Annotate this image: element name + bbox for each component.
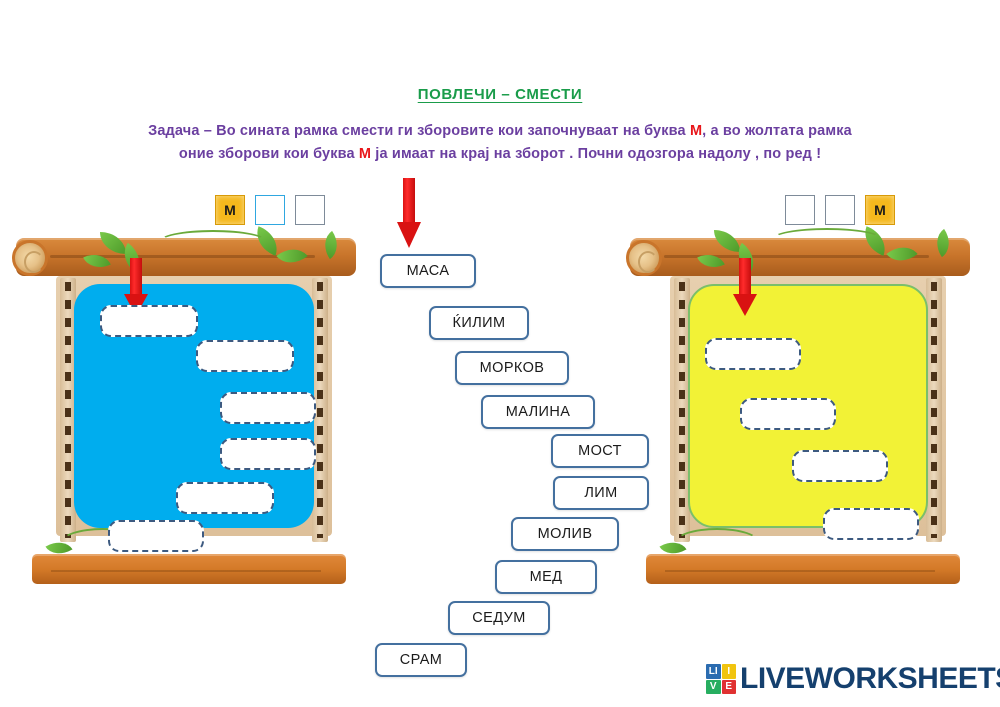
drop-slot-blue-2[interactable] — [196, 340, 294, 372]
drop-slot-blue-1[interactable] — [100, 305, 198, 337]
wood-log-top — [8, 228, 360, 284]
legend-box-left-3 — [295, 195, 325, 225]
instruction-line1-part2: , а во жолтата рамка — [702, 123, 852, 139]
vine-icon — [158, 230, 268, 254]
wood-log-top — [622, 228, 974, 284]
wood-plank-bottom — [32, 554, 346, 584]
down-arrow-icon-yellow — [733, 258, 757, 318]
drop-slot-blue-4[interactable] — [220, 438, 316, 470]
instruction-letter-m-2: М — [359, 146, 371, 162]
drop-slot-yellow-1[interactable] — [705, 338, 801, 370]
legend-box-left-2 — [255, 195, 285, 225]
drop-slot-blue-6[interactable] — [108, 520, 204, 552]
arrow-head — [397, 222, 421, 248]
logo-cell-e: E — [722, 680, 737, 695]
legend-box-right-2 — [825, 195, 855, 225]
instruction-text: Задача – Во сината рамка смести ги зборо… — [60, 120, 940, 166]
liveworksheets-grid-icon: LI I V E — [706, 664, 736, 694]
wood-plank-bottom — [646, 554, 960, 584]
word-card-sram[interactable]: СРАМ — [375, 643, 467, 677]
vine-icon — [674, 528, 760, 558]
legend-boxes-left: М — [215, 195, 325, 225]
vine-icon — [772, 228, 882, 250]
legend-box-left-1: М — [215, 195, 245, 225]
logo-cell-v: V — [706, 680, 721, 695]
word-card-med[interactable]: МЕД — [495, 560, 597, 594]
drop-slot-yellow-4[interactable] — [823, 508, 919, 540]
word-card-moliv[interactable]: МОЛИВ — [511, 517, 619, 551]
drop-slot-yellow-2[interactable] — [740, 398, 836, 430]
arrow-shaft — [403, 178, 415, 226]
down-arrow-icon-center — [397, 178, 421, 248]
log-end-cap-icon — [626, 240, 662, 276]
logo-cell-l: LI — [706, 664, 721, 679]
log-end-cap-icon — [12, 240, 48, 276]
worksheet-page: ПОВЛЕЧИ – СМЕСТИ Задача – Во сината рамк… — [0, 0, 1000, 707]
page-title: ПОВЛЕЧИ – СМЕСТИ — [0, 86, 1000, 103]
instruction-line1-part1: Задача – Во сината рамка смести ги зборо… — [148, 123, 690, 139]
word-card-masa[interactable]: МАСА — [380, 254, 476, 288]
word-card-morkov[interactable]: МОРКОВ — [455, 351, 569, 385]
instruction-line2-part1: оние зборови кои буква — [179, 146, 359, 162]
drop-slot-yellow-3[interactable] — [792, 450, 888, 482]
drop-slot-blue-5[interactable] — [176, 482, 274, 514]
liveworksheets-wordmark: LIVEWORKSHEETS — [740, 662, 1000, 696]
post-rivets-icon — [931, 282, 937, 538]
word-card-kilim[interactable]: ЌИЛИМ — [429, 306, 529, 340]
instruction-line2-part2: ја имаат на крај на зборот . Почни одозг… — [371, 146, 821, 162]
word-card-sedum[interactable]: СЕДУМ — [448, 601, 550, 635]
post-rivets-icon — [65, 282, 71, 538]
drop-slot-blue-3[interactable] — [220, 392, 316, 424]
word-card-most[interactable]: МОСТ — [551, 434, 649, 468]
instruction-letter-m-1: М — [690, 123, 702, 139]
arrow-shaft — [130, 258, 142, 298]
legend-box-right-1 — [785, 195, 815, 225]
board-post-right — [926, 278, 942, 542]
liveworksheets-logo[interactable]: LI I V E LIVEWORKSHEETS — [706, 662, 1000, 696]
legend-box-right-3: М — [865, 195, 895, 225]
arrow-head — [733, 294, 757, 316]
word-card-lim[interactable]: ЛИМ — [553, 476, 649, 510]
arrow-shaft — [739, 258, 751, 298]
legend-boxes-right: М — [785, 195, 895, 225]
post-rivets-icon — [679, 282, 685, 538]
logo-cell-i: I — [722, 664, 737, 679]
word-card-malina[interactable]: МАЛИНА — [481, 395, 595, 429]
post-rivets-icon — [317, 282, 323, 538]
